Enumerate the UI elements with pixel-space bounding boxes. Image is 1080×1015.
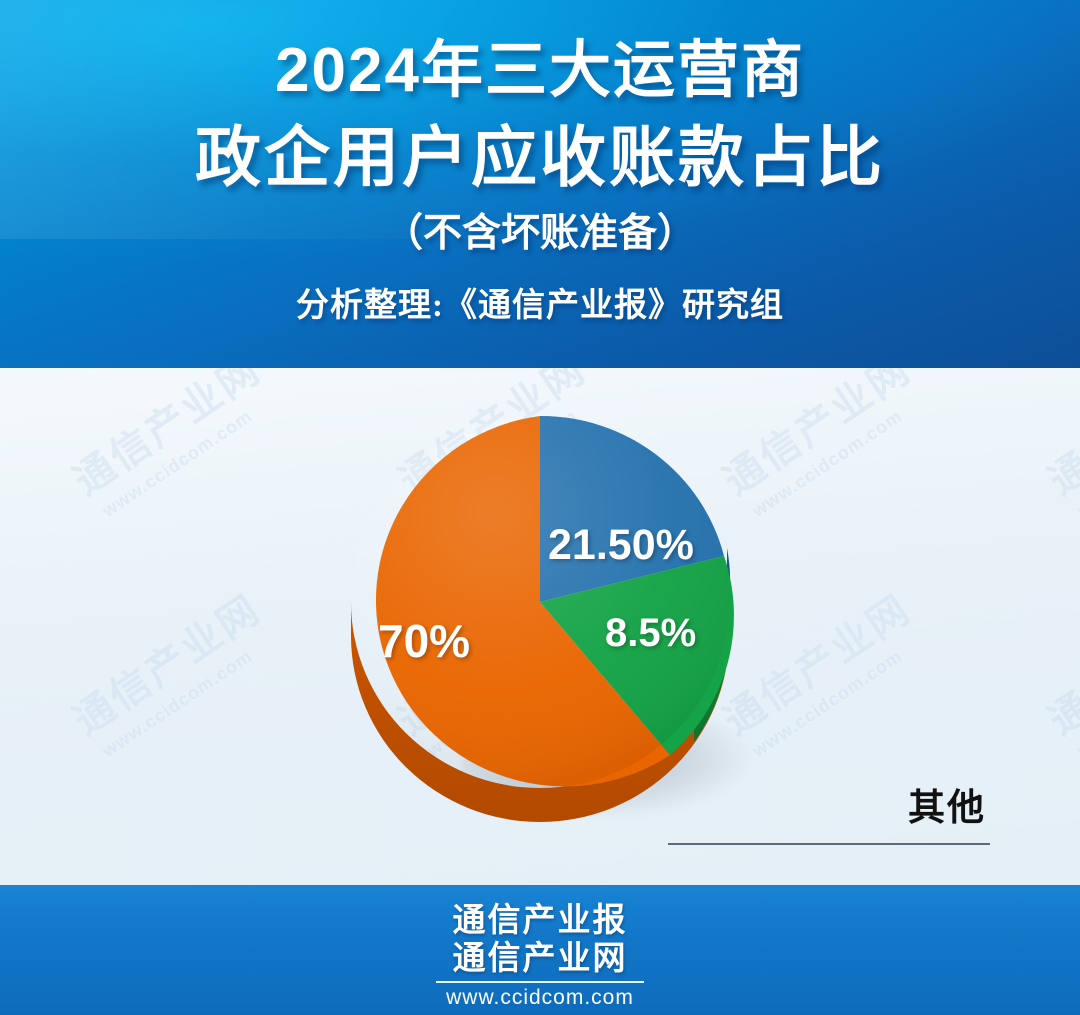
watermark-url: www.ccidcom.com (99, 388, 284, 522)
watermark-url: www.ccidcom.com (749, 628, 934, 762)
watermark-url: www.ccidcom.com (1074, 388, 1080, 522)
watermark-tile: 通信产业网 www.ccidcom.com (60, 368, 284, 525)
footer-divider (436, 981, 644, 983)
watermark-cn: 通信产业网 (1035, 578, 1080, 746)
chart-body: 通信产业网 www.ccidcom.com 通信产业网 www.ccidcom.… (0, 368, 1080, 885)
watermark-url: www.ccidcom.com (99, 628, 284, 762)
watermark-tile: 通信产业网 www.ccidcom.com (60, 578, 284, 765)
pie-gloss (351, 416, 729, 788)
watermark-cn: 通信产业网 (1035, 368, 1080, 506)
page-title-line1: 2024年三大运营商 (0, 36, 1080, 106)
pie-value-label-enterprise: 70% (378, 614, 470, 668)
callout-text-other: 其他 (908, 786, 986, 830)
watermark-url: www.ccidcom.com (749, 388, 934, 522)
pie-value-label-other: 21.50% (548, 521, 694, 570)
watermark-tile: 通信产业网 www.ccidcom.com (1035, 368, 1080, 525)
pie-chart: 21.50% 8.5% 70% (330, 398, 750, 858)
watermark-url: www.ccidcom.com (1074, 628, 1080, 762)
infographic-root: 2024年三大运营商 政企用户应收账款占比 （不含坏账准备） 分析整理:《通信产… (0, 0, 1080, 1015)
header-banner: 2024年三大运营商 政企用户应收账款占比 （不含坏账准备） 分析整理:《通信产… (0, 0, 1080, 368)
watermark-tile: 通信产业网 www.ccidcom.com (1035, 578, 1080, 765)
page-credit: 分析整理:《通信产业报》研究组 (0, 286, 1080, 326)
header-content: 2024年三大运营商 政企用户应收账款占比 （不含坏账准备） 分析整理:《通信产… (0, 0, 1080, 368)
leader-line-other (668, 843, 990, 845)
watermark-cn: 通信产业网 (60, 368, 271, 506)
footer-url: www.ccidcom.com (0, 986, 1080, 1010)
pie-value-label-public: 8.5% (605, 611, 696, 656)
page-title-line2: 政企用户应收账款占比 (0, 120, 1080, 194)
footer-banner: 通信产业报 通信产业网 www.ccidcom.com (0, 885, 1080, 1015)
footer-logo: 通信产业报 通信产业网 www.ccidcom.com (0, 901, 1080, 1010)
footer-brand-line2: 通信产业网 (0, 939, 1080, 977)
callout-label-other: 其他 (908, 786, 986, 830)
page-title-note: （不含坏账准备） (0, 211, 1080, 257)
watermark-cn: 通信产业网 (60, 578, 271, 746)
footer-brand-line1: 通信产业报 (0, 901, 1080, 939)
